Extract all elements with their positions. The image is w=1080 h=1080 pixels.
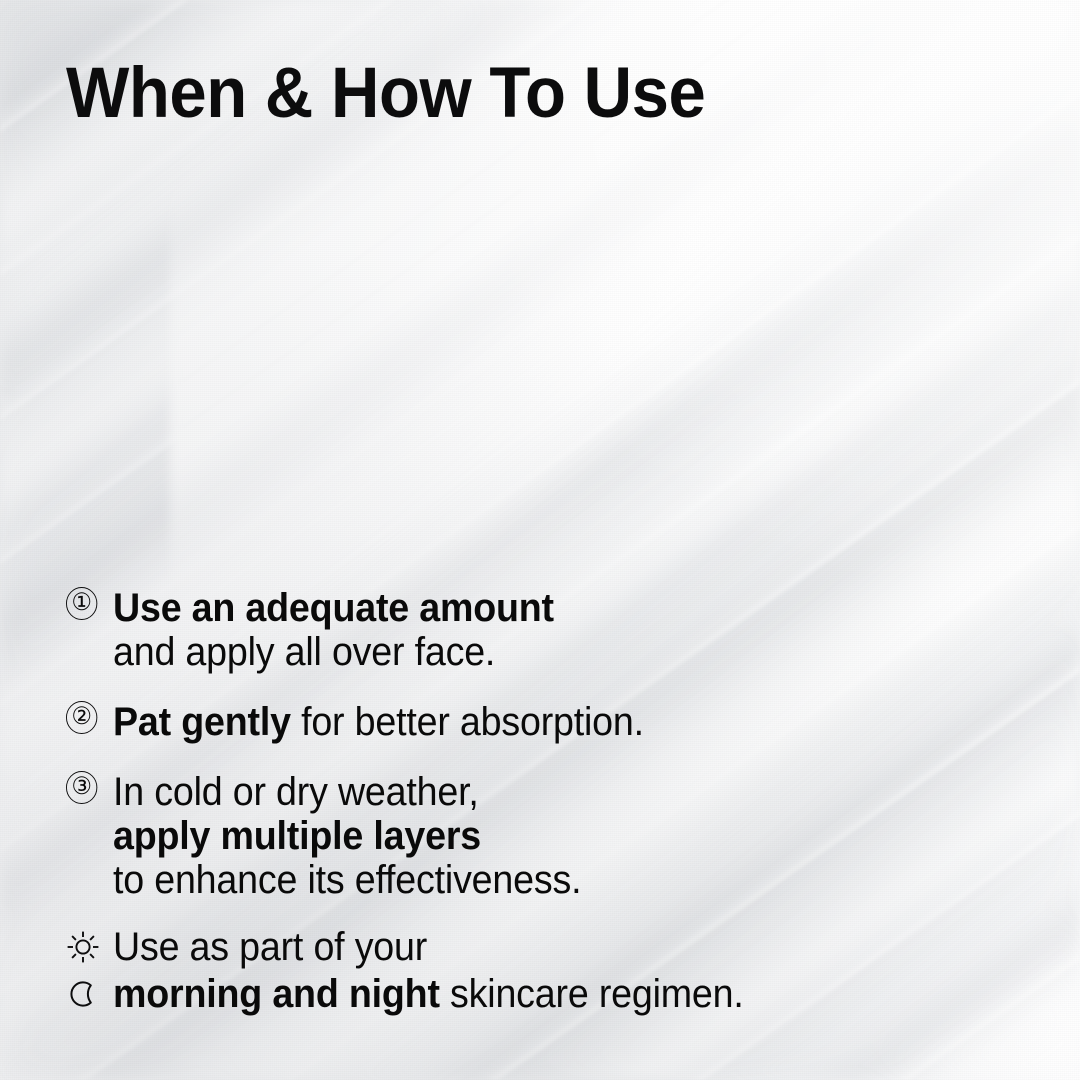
usage-step-3-line-2: apply multiple layers (113, 814, 971, 858)
usage-instruction-card: When & How To Use ① Use an adequate amou… (0, 0, 1080, 1080)
page-title: When & How To Use (66, 58, 705, 129)
usage-steps-list: ① Use an adequate amount and apply all o… (66, 586, 1026, 902)
usage-timing-row-day-regular: Use as part of your (113, 925, 427, 969)
usage-step-3-line-3-regular: to enhance its effectiveness. (113, 858, 581, 902)
usage-step-2: ② Pat gently for better absorption. (66, 700, 1026, 744)
usage-step-1-line-1-bold: Use an adequate amount (113, 586, 554, 630)
usage-timing-row-night-regular: skincare regimen. (440, 972, 744, 1016)
usage-step-3: ③ In cold or dry weather, apply multiple… (66, 770, 1026, 902)
usage-timing-row-night-bold: morning and night (113, 972, 440, 1016)
usage-timing-row-day: Use as part of your (66, 925, 1026, 972)
usage-timing-row-night-text: morning and night skincare regimen. (113, 972, 971, 1016)
usage-step-3-line-3: to enhance its effectiveness. (113, 858, 971, 902)
usage-step-3-line-2-bold: apply multiple layers (113, 814, 481, 858)
usage-step-1-line-2: and apply all over face. (113, 630, 971, 674)
usage-step-1-line-2-regular: and apply all over face. (113, 630, 495, 674)
usage-step-2-line-1-regular: for better absorption. (291, 700, 644, 744)
moon-icon (66, 972, 106, 1016)
circled-three-icon: ③ (66, 771, 97, 804)
usage-step-2-line-1-bold: Pat gently (113, 700, 291, 744)
circled-one-icon: ① (66, 587, 97, 620)
usage-timing-row-night: morning and night skincare regimen. (66, 972, 1026, 1019)
usage-step-3-line-1-regular: In cold or dry weather, (113, 770, 479, 814)
usage-timing-row-day-text: Use as part of your (113, 925, 971, 969)
usage-timing-note: Use as part of your morning and night sk… (66, 925, 1026, 1019)
usage-step-1: ① Use an adequate amount and apply all o… (66, 586, 1026, 674)
usage-step-1-line-1: Use an adequate amount (113, 586, 971, 630)
circled-two-icon: ② (66, 701, 97, 734)
usage-step-2-line-1: Pat gently for better absorption. (113, 700, 971, 744)
usage-step-3-line-1: In cold or dry weather, (113, 770, 971, 814)
sun-icon (66, 925, 106, 969)
